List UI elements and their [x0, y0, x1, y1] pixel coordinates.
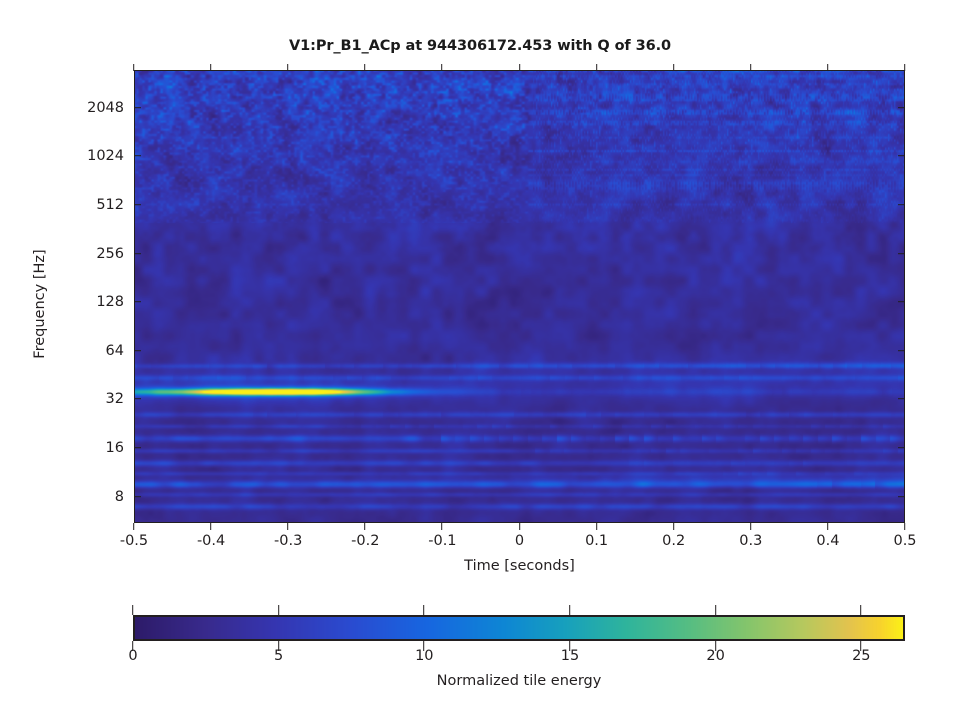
colorbar-tick-mark: [278, 641, 279, 651]
y-axis-tick-mark: [134, 350, 141, 351]
x-axis-tick-mark: [596, 523, 597, 530]
y-axis-tick-mark: [134, 107, 141, 108]
y-axis-tick-mark: [134, 301, 141, 302]
y-axis-tick-mark: [898, 107, 905, 108]
x-axis-tick-label: 0: [515, 533, 524, 549]
y-axis-tick-mark: [898, 496, 905, 497]
y-axis-tick-labels: 816326412825651210242048: [62, 0, 124, 720]
x-axis-tick-mark: [442, 523, 443, 530]
colorbar-tick-mark: [132, 641, 133, 651]
x-axis-tick-label: 0.4: [816, 533, 839, 549]
x-axis-tick-mark: [210, 523, 211, 530]
x-axis-tick-label: -0.2: [351, 533, 379, 549]
y-axis-tick-label: 16: [106, 440, 124, 456]
y-axis-tick-label: 256: [96, 246, 124, 262]
x-axis-tick-label: 0.5: [893, 533, 916, 549]
y-axis-label: Frequency [Hz]: [32, 224, 48, 384]
x-axis-tick-label: 0.3: [739, 533, 762, 549]
y-axis-tick-mark: [898, 399, 905, 400]
y-axis-tick-label: 2048: [87, 100, 124, 116]
y-axis-tick-mark: [134, 496, 141, 497]
spectrogram-figure: V1:Pr_B1_ACp at 944306172.453 with Q of …: [0, 0, 960, 720]
colorbar-tick-mark: [278, 605, 279, 615]
colorbar-tick-mark: [860, 605, 861, 615]
x-axis-tick-mark: [133, 523, 134, 530]
x-axis-tick-mark: [287, 64, 288, 71]
y-axis-tick-label: 64: [106, 343, 124, 359]
x-axis-tick-label: 0.1: [585, 533, 608, 549]
y-axis-tick-mark: [898, 253, 905, 254]
spectrogram-image: [135, 71, 905, 523]
x-axis-tick-mark: [364, 64, 365, 71]
y-axis-tick-mark: [134, 204, 141, 205]
y-axis-tick-mark: [898, 301, 905, 302]
y-axis-tick-mark: [898, 447, 905, 448]
x-axis-tick-mark: [596, 64, 597, 71]
colorbar-tick-mark: [715, 641, 716, 651]
x-axis-tick-label: -0.5: [120, 533, 148, 549]
x-axis-tick-mark: [827, 523, 828, 530]
x-axis-tick-mark: [904, 523, 905, 530]
x-axis-tick-mark: [519, 64, 520, 71]
x-axis-tick-label: -0.4: [197, 533, 225, 549]
colorbar: [133, 615, 905, 641]
y-axis-tick-label: 32: [106, 391, 124, 407]
x-axis-tick-mark: [673, 523, 674, 530]
y-axis-tick-mark: [134, 253, 141, 254]
page-title: V1:Pr_B1_ACp at 944306172.453 with Q of …: [0, 38, 960, 54]
x-axis-tick-label: -0.1: [428, 533, 456, 549]
y-axis-tick-label: 8: [115, 489, 124, 505]
y-axis-tick-label: 1024: [87, 148, 124, 164]
colorbar-tick-mark: [715, 605, 716, 615]
colorbar-gradient: [135, 617, 903, 639]
spectrogram-plot-area: [134, 70, 905, 523]
y-axis-tick-mark: [134, 399, 141, 400]
colorbar-tick-mark: [569, 641, 570, 651]
y-axis-tick-mark: [134, 155, 141, 156]
x-axis-tick-mark: [827, 64, 828, 71]
colorbar-tick-mark: [569, 605, 570, 615]
x-axis-label: Time [seconds]: [134, 558, 905, 574]
colorbar-tick-mark: [424, 641, 425, 651]
y-axis-tick-label: 128: [96, 294, 124, 310]
x-axis-tick-mark: [673, 64, 674, 71]
x-axis-tick-mark: [750, 64, 751, 71]
x-axis-tick-mark: [519, 523, 520, 530]
x-axis-tick-mark: [364, 523, 365, 530]
colorbar-tick-mark: [860, 641, 861, 651]
colorbar-tick-mark: [132, 605, 133, 615]
colorbar-tick-mark: [424, 605, 425, 615]
x-axis-tick-mark: [287, 523, 288, 530]
y-axis-tick-mark: [898, 350, 905, 351]
x-axis-tick-label: 0.2: [662, 533, 685, 549]
x-axis-tick-mark: [210, 64, 211, 71]
x-axis-tick-mark: [133, 64, 134, 71]
y-axis-tick-mark: [898, 204, 905, 205]
y-axis-tick-label: 512: [96, 197, 124, 213]
x-axis-tick-mark: [904, 64, 905, 71]
y-axis-tick-mark: [898, 155, 905, 156]
y-axis-tick-mark: [134, 447, 141, 448]
x-axis-tick-label: -0.3: [274, 533, 302, 549]
x-axis-tick-mark: [750, 523, 751, 530]
x-axis-tick-mark: [442, 64, 443, 71]
colorbar-label: Normalized tile energy: [133, 673, 905, 689]
